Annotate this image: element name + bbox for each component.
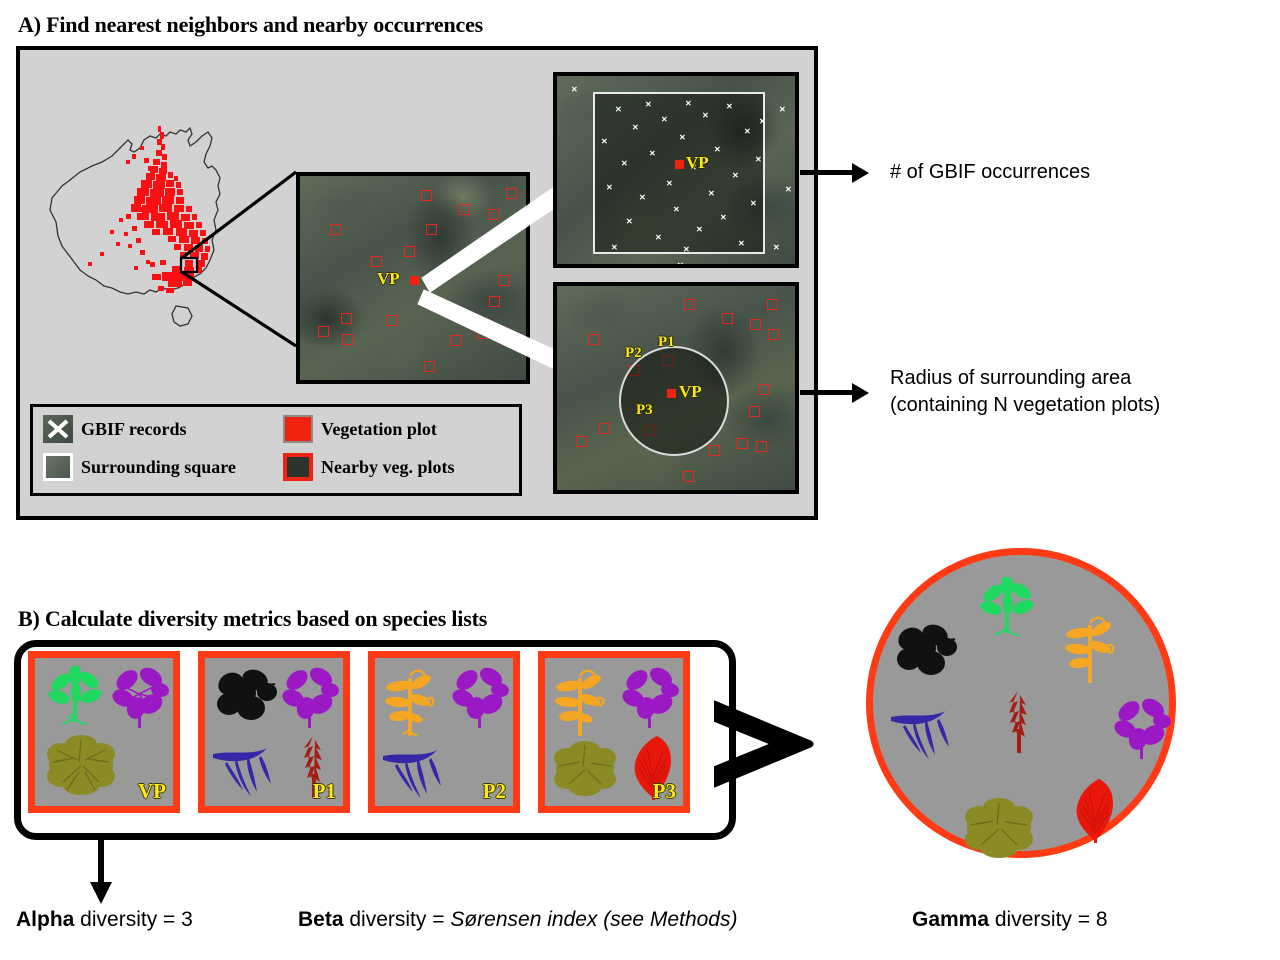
vp-label-radius: VP xyxy=(679,382,702,402)
annotation-arrow-line-gbif xyxy=(800,170,854,175)
orange-vine-icon xyxy=(1065,613,1117,689)
gamma-pool-arrow xyxy=(714,692,846,800)
gamma-species-pool-circle xyxy=(866,548,1176,858)
alpha-text: diversity = xyxy=(74,908,181,931)
veg-plot-marker xyxy=(450,335,461,346)
panel-b-title: B) Calculate diversity metrics based on … xyxy=(18,606,487,632)
species-plot-vp: VP xyxy=(28,651,180,813)
veg-plot-marker xyxy=(489,209,500,220)
plot-tag-vp: VP xyxy=(138,779,166,804)
panel-b-container: VP xyxy=(14,640,754,840)
green-herb-icon xyxy=(47,666,105,728)
veg-plot-marker xyxy=(424,361,435,372)
olive-shrub-icon xyxy=(551,738,621,798)
legend-label: Nearby veg. plots xyxy=(321,457,455,478)
orange-vine-icon xyxy=(385,666,437,742)
veg-plot-marker xyxy=(426,224,437,235)
veg-plot-marker xyxy=(749,406,760,417)
satellite-panel-radius: VP P1 P2 P3 xyxy=(553,282,799,494)
olive-shrub-icon xyxy=(43,732,121,796)
australia-occurrence-map xyxy=(40,110,290,360)
beta-diversity-label: Beta diversity = Sørensen index (see Met… xyxy=(298,908,737,932)
veg-plot-marker xyxy=(342,334,353,345)
vp-label-main: VP xyxy=(377,269,400,289)
legend-label: GBIF records xyxy=(81,419,187,440)
surrounding-radius-circle xyxy=(619,346,729,456)
plot-tag-p3: P3 xyxy=(653,779,676,804)
alpha-diversity-arrow xyxy=(88,836,114,906)
x-mark-icon xyxy=(43,415,73,443)
veg-plot-marker xyxy=(683,471,694,482)
veg-plot-marker xyxy=(750,319,761,330)
annotation-radius-line2: (containing N vegetation plots) xyxy=(890,392,1160,419)
satellite-panel-gbif-records: ✕ ✕ ✕ ✕ ✕ ✕ ✕ ✕ ✕ ✕ ✕ ✕ ✕ ✕ ✕ ✕ ✕ ✕ ✕ ✕ … xyxy=(553,72,799,268)
legend-item-surrounding-square: Surrounding square xyxy=(43,453,236,481)
annotation-gbif-occurrences: # of GBIF occurrences xyxy=(890,159,1090,186)
veg-plot-marker xyxy=(318,326,329,337)
purple-flower-icon xyxy=(451,666,509,732)
p2-label: P2 xyxy=(625,345,642,362)
veg-plot-marker xyxy=(759,384,770,395)
purple-flower-icon xyxy=(111,666,169,732)
dark-red-spike-icon xyxy=(1000,687,1038,757)
annotation-radius-line1: Radius of surrounding area xyxy=(890,365,1131,392)
veg-plot-marker xyxy=(341,313,352,324)
blue-grass-icon xyxy=(889,703,967,763)
black-flower-icon xyxy=(215,668,277,724)
species-plot-p3: P3 xyxy=(538,651,690,813)
annotation-arrow-head-gbif xyxy=(852,163,869,183)
legend-box: GBIF records Surrounding square Vegetati… xyxy=(30,404,522,496)
olive-shrub-icon xyxy=(961,795,1039,859)
veg-plot-marker xyxy=(404,246,415,257)
veg-plot-marker xyxy=(599,423,610,434)
gamma-name: Gamma xyxy=(912,908,989,931)
legend-label: Vegetation plot xyxy=(321,419,437,440)
orange-vine-icon xyxy=(555,666,607,742)
veg-plot-marker xyxy=(737,438,748,449)
green-herb-icon xyxy=(979,577,1037,639)
p3-label: P3 xyxy=(636,402,653,419)
veg-plot-marker xyxy=(588,334,599,345)
annotation-arrow-head-radius xyxy=(852,383,869,403)
alpha-name: Alpha xyxy=(16,908,74,931)
gamma-text: diversity = xyxy=(989,908,1096,931)
veg-plot-marker xyxy=(767,299,778,310)
gamma-value: 8 xyxy=(1096,908,1108,931)
panel-a-title: A) Find nearest neighbors and nearby occ… xyxy=(18,12,483,38)
legend-item-gbif-records: GBIF records xyxy=(43,415,187,443)
alpha-value: 3 xyxy=(181,908,193,931)
beta-italic: Sørensen index (see Methods) xyxy=(450,908,737,931)
red-square-icon xyxy=(283,415,313,443)
red-feather-icon xyxy=(1069,777,1119,845)
veg-plot-marker xyxy=(496,331,507,342)
blue-grass-icon xyxy=(211,740,289,800)
veg-plot-marker xyxy=(507,219,518,230)
veg-plot-marker xyxy=(506,188,517,199)
satellite-panel-nearby-plots: VP xyxy=(296,172,530,384)
veg-plot-marker xyxy=(477,328,488,339)
blue-grass-icon xyxy=(381,742,459,802)
purple-flower-icon xyxy=(281,666,339,732)
p1-label: P1 xyxy=(658,334,675,351)
vp-label-gbif: VP xyxy=(686,153,709,173)
veg-plot-marker xyxy=(709,445,720,456)
legend-item-nearby-veg-plots: Nearby veg. plots xyxy=(283,453,455,481)
plot-tag-p2: P2 xyxy=(483,779,506,804)
surrounding-square-overlay: ✕ ✕ ✕ ✕ ✕ ✕ ✕ ✕ ✕ ✕ ✕ ✕ ✕ ✕ ✕ ✕ ✕ ✕ ✕ ✕ … xyxy=(593,92,765,254)
veg-plot-marker xyxy=(576,436,587,447)
alpha-diversity-label: Alpha diversity = 3 xyxy=(16,908,193,932)
focal-vegetation-plot-marker xyxy=(675,160,684,169)
veg-plot-marker xyxy=(371,256,382,267)
purple-flower-icon xyxy=(1113,697,1171,763)
purple-flower-icon xyxy=(621,666,679,732)
species-plot-p2: P2 xyxy=(368,651,520,813)
gamma-diversity-label: Gamma diversity = 8 xyxy=(912,908,1108,932)
veg-plot-marker xyxy=(330,224,341,235)
species-plot-p1: P1 xyxy=(198,651,350,813)
focal-vegetation-plot-marker xyxy=(667,389,676,398)
veg-plot-marker xyxy=(499,275,510,286)
legend-item-vegetation-plot: Vegetation plot xyxy=(283,415,437,443)
plot-tag-p1: P1 xyxy=(313,779,336,804)
red-outlined-dark-square-icon xyxy=(283,453,313,481)
legend-label: Surrounding square xyxy=(81,457,236,478)
beta-text: diversity = xyxy=(344,908,451,931)
white-outlined-square-icon xyxy=(43,453,73,481)
beta-name: Beta xyxy=(298,908,344,931)
focal-vegetation-plot-marker xyxy=(410,276,419,285)
annotation-arrow-line-radius xyxy=(800,390,854,395)
veg-plot-marker xyxy=(756,441,767,452)
veg-plot-marker xyxy=(386,315,397,326)
veg-plot-marker xyxy=(768,329,779,340)
black-flower-icon xyxy=(895,623,957,679)
veg-plot-marker xyxy=(459,204,470,215)
veg-plot-marker xyxy=(684,299,695,310)
veg-plot-marker xyxy=(421,190,432,201)
veg-plot-marker xyxy=(722,313,733,324)
veg-plot-marker xyxy=(489,296,500,307)
